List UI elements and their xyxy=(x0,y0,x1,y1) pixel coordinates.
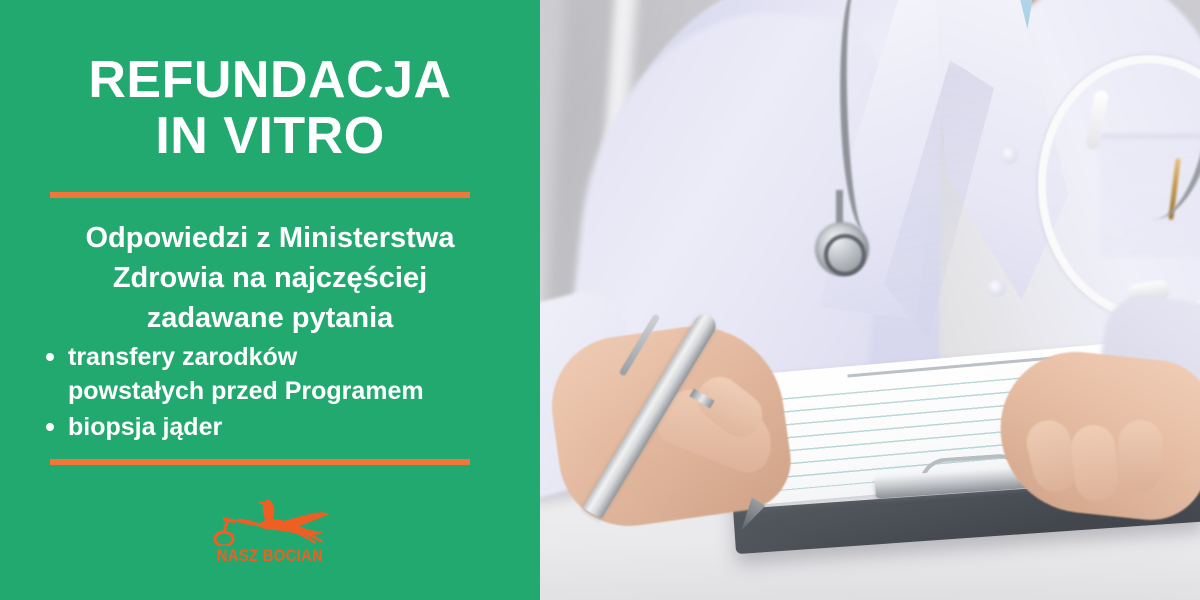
list-item: biopsja jąder xyxy=(44,410,514,444)
subtitle: Odpowiedzi z Ministerstwa Zdrowia na naj… xyxy=(30,218,510,338)
coat-button-lower xyxy=(988,280,1005,297)
divider-top xyxy=(50,192,470,198)
bullet-2-line-1: biopsja jąder xyxy=(68,410,514,444)
logo[interactable]: NASZ BOCIAN xyxy=(195,498,345,576)
subtitle-line-2: Zdrowia na najczęściej xyxy=(30,258,510,298)
list-item: transfery zarodków powstałych przed Prog… xyxy=(44,340,514,408)
bullet-1-line-2: powstałych przed Programem xyxy=(68,374,514,408)
bullet-dot-icon xyxy=(46,353,54,361)
subtitle-line-3: zadawane pytania xyxy=(30,298,510,338)
stork-icon xyxy=(205,498,335,546)
bullet-dot-icon xyxy=(46,423,54,431)
divider-bottom xyxy=(50,459,470,465)
bullet-1-line-1: transfery zarodków xyxy=(68,340,514,374)
bullet-list: transfery zarodków powstałych przed Prog… xyxy=(44,340,514,446)
right-hand-finger xyxy=(1117,419,1163,492)
logo-wordmark: NASZ BOCIAN xyxy=(206,546,335,566)
page-title: REFUNDACJA IN VITRO xyxy=(0,52,540,164)
headline-line-1: REFUNDACJA xyxy=(0,52,540,108)
green-content-panel: REFUNDACJA IN VITRO Odpowiedzi z Ministe… xyxy=(0,0,540,600)
doctor-photo xyxy=(540,0,1200,600)
promo-banner: REFUNDACJA IN VITRO Odpowiedzi z Ministe… xyxy=(0,0,1200,600)
stethoscope-chestpiece-ring xyxy=(824,234,866,276)
headline-line-2: IN VITRO xyxy=(0,108,540,164)
coat-button-upper xyxy=(1001,147,1018,164)
subtitle-line-1: Odpowiedzi z Ministerstwa xyxy=(30,218,510,258)
